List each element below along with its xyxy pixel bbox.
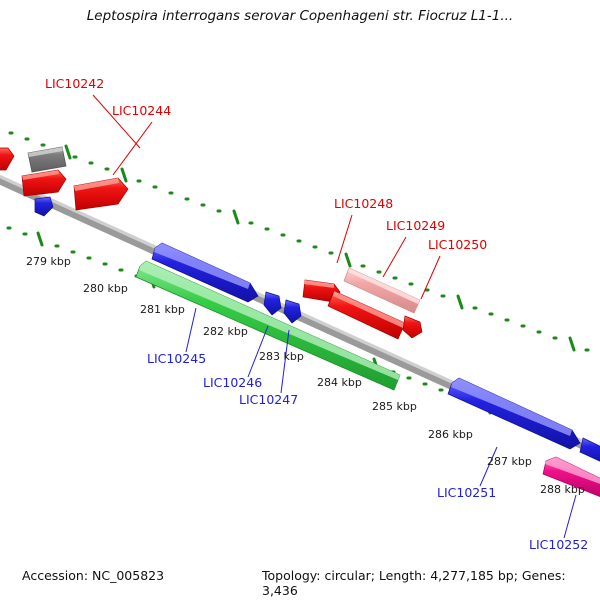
ruler-tick-label: 282 kbp — [203, 325, 248, 338]
gene-label-LIC10248[interactable]: LIC10248 — [334, 196, 393, 211]
gene-label-LIC10252[interactable]: LIC10252 — [529, 537, 588, 552]
gene-glyph-red-cap[interactable] — [403, 316, 422, 338]
genome-viewer-canvas[interactable]: Leptospira interrogans serovar Copenhage… — [0, 0, 600, 600]
gene-glyph-blue-tail[interactable] — [580, 438, 600, 464]
leader-LIC10245 — [186, 308, 196, 352]
ruler-tick-label: 281 kbp — [140, 303, 185, 316]
leader-LIC10248 — [337, 215, 352, 263]
gene-glyph-LIC10242[interactable] — [28, 147, 66, 172]
ruler-tick-label: 285 kbp — [372, 400, 417, 413]
gene-labels[interactable]: LIC10242 LIC10244 LIC10245 LIC10246 LIC1… — [45, 76, 588, 552]
accession-text: Accession: NC_005823 — [22, 568, 164, 583]
ruler-tick-label: 279 kbp — [26, 255, 71, 268]
gene-label-LIC10247[interactable]: LIC10247 — [239, 392, 298, 407]
gene-label-LIC10246[interactable]: LIC10246 — [203, 375, 262, 390]
gene-glyph-LIC10246[interactable] — [264, 292, 281, 315]
leader-LIC10244 — [113, 122, 152, 175]
gene-label-LIC10249[interactable]: LIC10249 — [386, 218, 445, 233]
gene-label-LIC10242[interactable]: LIC10242 — [45, 76, 104, 91]
leader-LIC10250 — [421, 256, 440, 299]
gene-glyph-LIC10244[interactable] — [74, 178, 128, 210]
gene-label-LIC10245[interactable]: LIC10245 — [147, 351, 206, 366]
leader-LIC10252 — [564, 495, 576, 538]
genome-meta-text: Topology: circular; Length: 4,277,185 bp… — [262, 568, 600, 598]
ruler-tick-label: 280 kbp — [83, 282, 128, 295]
gene-label-LIC10251[interactable]: LIC10251 — [437, 485, 496, 500]
leader-LIC10249 — [383, 237, 406, 277]
ruler-tick-label: 288 kbp — [540, 483, 585, 496]
gene-glyph-blue-pentagon-left[interactable] — [35, 197, 53, 216]
gene-glyph-partial-left[interactable] — [0, 148, 14, 170]
status-bar: Accession: NC_005823 Topology: circular;… — [0, 568, 600, 600]
gene-label-LIC10244[interactable]: LIC10244 — [112, 103, 171, 118]
genome-map-svg[interactable]: LIC10242 LIC10244 LIC10245 LIC10246 LIC1… — [0, 0, 600, 600]
leader-lines — [93, 95, 576, 538]
gene-label-LIC10250[interactable]: LIC10250 — [428, 237, 487, 252]
ruler-tick-label: 283 kbp — [259, 350, 304, 363]
ruler-tick-label: 287 kbp — [487, 455, 532, 468]
ruler-tick-label: 286 kbp — [428, 428, 473, 441]
ruler-tick-label: 284 kbp — [317, 376, 362, 389]
gene-glyph-LIC10243[interactable] — [22, 170, 66, 196]
